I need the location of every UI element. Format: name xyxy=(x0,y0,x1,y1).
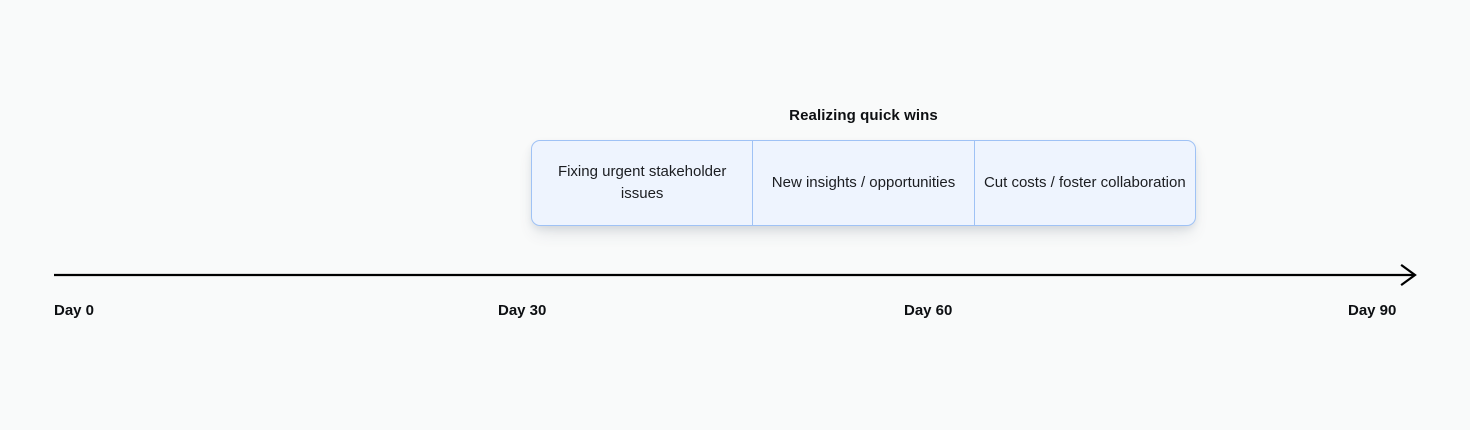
phase-box-3-label: Cut costs / foster collaboration xyxy=(984,172,1186,194)
axis-tick-day-90: Day 90 xyxy=(1348,302,1396,319)
timeline-diagram: Realizing quick wins Fixing urgent stake… xyxy=(0,0,1470,430)
axis-tick-day-0: Day 0 xyxy=(54,302,94,319)
phase-group: Fixing urgent stakeholder issues New ins… xyxy=(531,140,1196,226)
phase-box-1[interactable]: Fixing urgent stakeholder issues xyxy=(532,141,753,225)
axis-tick-day-30: Day 30 xyxy=(498,302,546,319)
timeline-axis xyxy=(54,262,1422,288)
phase-box-1-label: Fixing urgent stakeholder issues xyxy=(538,161,746,205)
phase-group-title: Realizing quick wins xyxy=(531,107,1196,124)
axis-tick-day-60: Day 60 xyxy=(904,302,952,319)
phase-box-3[interactable]: Cut costs / foster collaboration xyxy=(975,141,1195,225)
phase-box-2[interactable]: New insights / opportunities xyxy=(753,141,974,225)
arrow-right-icon xyxy=(54,262,1422,288)
phase-box-2-label: New insights / opportunities xyxy=(772,172,955,194)
